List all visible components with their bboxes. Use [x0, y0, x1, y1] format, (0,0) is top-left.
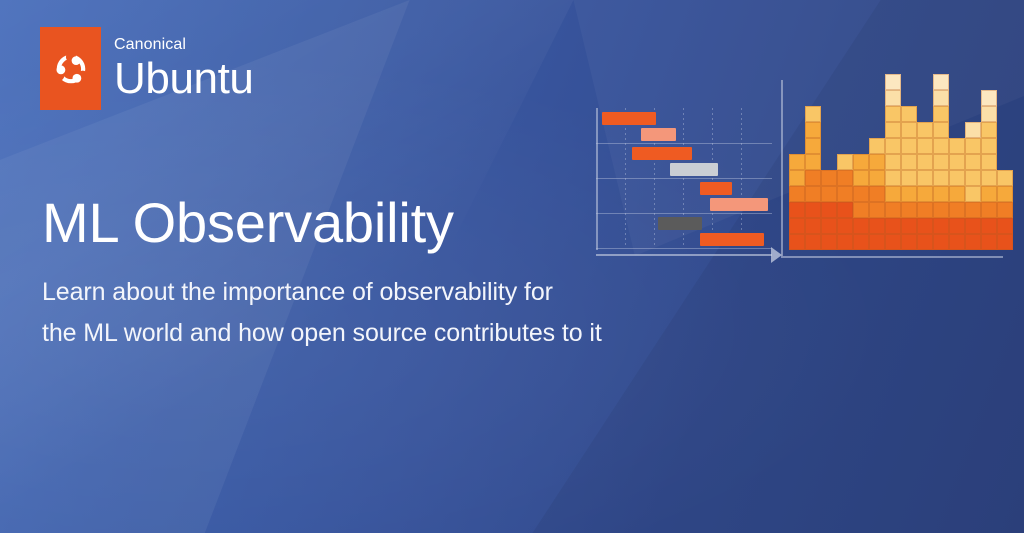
logo-wordmark: Canonical Ubuntu — [114, 27, 253, 110]
barchart-cell — [821, 234, 837, 250]
barchart-column — [789, 154, 805, 250]
barchart-cell — [997, 234, 1013, 250]
barchart-cell — [837, 154, 853, 170]
barchart-cell — [821, 202, 837, 218]
barchart-cell — [885, 74, 901, 90]
barchart-cell — [853, 170, 869, 186]
barchart-cell — [997, 218, 1013, 234]
barchart-cell — [901, 170, 917, 186]
barchart-cell — [981, 202, 997, 218]
barchart-cell — [981, 90, 997, 106]
barchart-cell — [965, 122, 981, 138]
barchart-cell — [917, 154, 933, 170]
barchart-cell — [837, 234, 853, 250]
barchart-cell — [981, 234, 997, 250]
barchart-cell — [901, 138, 917, 154]
barchart-cell — [901, 186, 917, 202]
barchart-cell — [869, 154, 885, 170]
barchart-y-axis — [781, 80, 783, 256]
barchart-cell — [965, 170, 981, 186]
barchart-cell — [837, 202, 853, 218]
barchart-cell — [869, 202, 885, 218]
barchart-cell — [821, 170, 837, 186]
gantt-chart-illustration — [596, 108, 776, 256]
barchart-column — [917, 122, 933, 250]
barchart-cell — [981, 186, 997, 202]
barchart-cell — [965, 218, 981, 234]
logo-canonical-text: Canonical — [114, 37, 253, 53]
barchart-cell — [789, 202, 805, 218]
barchart-cell — [949, 186, 965, 202]
barchart-cell — [917, 202, 933, 218]
barchart-cell — [901, 202, 917, 218]
barchart-cell — [837, 218, 853, 234]
barchart-cell — [805, 218, 821, 234]
barchart-cell — [933, 186, 949, 202]
barchart-column — [933, 74, 949, 250]
gantt-task-bar — [700, 233, 764, 246]
barchart-cell — [933, 218, 949, 234]
barchart-cell — [997, 202, 1013, 218]
barchart-cell — [917, 122, 933, 138]
barchart-cell — [885, 106, 901, 122]
barchart-column — [997, 170, 1013, 250]
barchart-cell — [869, 218, 885, 234]
barchart-cell — [821, 218, 837, 234]
barchart-cell — [917, 186, 933, 202]
barchart-columns — [789, 74, 1013, 250]
barchart-cell — [805, 234, 821, 250]
barchart-cell — [933, 154, 949, 170]
barchart-cell — [837, 186, 853, 202]
barchart-cell — [949, 138, 965, 154]
barchart-cell — [981, 106, 997, 122]
barchart-cell — [901, 122, 917, 138]
barchart-cell — [805, 170, 821, 186]
gantt-column-gridline — [712, 108, 713, 248]
barchart-cell — [789, 218, 805, 234]
barchart-cell — [805, 202, 821, 218]
barchart-cell — [853, 202, 869, 218]
barchart-cell — [885, 170, 901, 186]
barchart-column — [981, 90, 997, 250]
barchart-cell — [869, 170, 885, 186]
barchart-cell — [965, 138, 981, 154]
barchart-column — [949, 138, 965, 250]
barchart-cell — [965, 154, 981, 170]
barchart-cell — [885, 138, 901, 154]
barchart-cell — [901, 218, 917, 234]
barchart-cell — [933, 202, 949, 218]
barchart-cell — [869, 186, 885, 202]
barchart-cell — [869, 234, 885, 250]
barchart-column — [837, 154, 853, 250]
barchart-cell — [885, 154, 901, 170]
barchart-x-axis — [781, 256, 1003, 258]
barchart-cell — [901, 106, 917, 122]
barchart-cell — [789, 154, 805, 170]
gantt-task-bar — [700, 182, 732, 195]
barchart-cell — [853, 218, 869, 234]
barchart-cell — [805, 138, 821, 154]
gantt-column-gridline — [741, 108, 742, 248]
barchart-cell — [789, 186, 805, 202]
barchart-cell — [981, 138, 997, 154]
barchart-cell — [965, 202, 981, 218]
barchart-cell — [933, 122, 949, 138]
gantt-task-bar — [670, 163, 718, 176]
gantt-row-divider — [596, 213, 772, 214]
barchart-cell — [885, 218, 901, 234]
barchart-cell — [917, 170, 933, 186]
barchart-cell — [885, 202, 901, 218]
gantt-y-axis — [596, 108, 598, 250]
barchart-cell — [949, 202, 965, 218]
barchart-cell — [805, 106, 821, 122]
barchart-cell — [917, 234, 933, 250]
gantt-task-bar — [710, 198, 768, 211]
gantt-task-bar — [602, 112, 656, 125]
barchart-cell — [933, 90, 949, 106]
barchart-cell — [965, 234, 981, 250]
gantt-x-axis — [596, 254, 772, 256]
barchart-cell — [789, 170, 805, 186]
barchart-cell — [805, 186, 821, 202]
barchart-cell — [885, 234, 901, 250]
barchart-cell — [949, 170, 965, 186]
activity-bar-chart-illustration — [781, 80, 1003, 258]
barchart-cell — [949, 234, 965, 250]
barchart-cell — [933, 74, 949, 90]
gantt-task-bar — [632, 147, 692, 160]
barchart-cell — [885, 122, 901, 138]
barchart-cell — [949, 154, 965, 170]
page-subtitle: Learn about the importance of observabil… — [42, 272, 602, 353]
barchart-column — [901, 106, 917, 250]
barchart-cell — [933, 170, 949, 186]
barchart-cell — [805, 122, 821, 138]
barchart-cell — [853, 154, 869, 170]
barchart-cell — [949, 218, 965, 234]
subtitle-line-1: Learn about the importance of observabil… — [42, 272, 602, 313]
gantt-row-divider — [596, 143, 772, 144]
barchart-column — [965, 122, 981, 250]
barchart-cell — [965, 186, 981, 202]
page-title: ML Observability — [42, 195, 454, 251]
gantt-task-bar — [641, 128, 676, 141]
barchart-cell — [869, 138, 885, 154]
barchart-cell — [933, 138, 949, 154]
logo-ubuntu-text: Ubuntu — [114, 56, 253, 101]
barchart-cell — [933, 106, 949, 122]
barchart-cell — [853, 186, 869, 202]
slide-canvas: Canonical Ubuntu ML Observability Learn … — [0, 0, 1024, 533]
barchart-cell — [981, 122, 997, 138]
barchart-cell — [885, 90, 901, 106]
barchart-cell — [981, 218, 997, 234]
ubuntu-logo-tile — [40, 27, 101, 110]
barchart-cell — [933, 234, 949, 250]
subtitle-line-2: the ML world and how open source contrib… — [42, 313, 602, 354]
gantt-task-bar — [658, 217, 702, 230]
gantt-row-divider — [596, 248, 772, 249]
barchart-cell — [917, 138, 933, 154]
barchart-cell — [981, 154, 997, 170]
barchart-cell — [901, 154, 917, 170]
barchart-cell — [837, 170, 853, 186]
gantt-row-divider — [596, 178, 772, 179]
barchart-cell — [901, 234, 917, 250]
barchart-cell — [917, 218, 933, 234]
gantt-column-gridline — [625, 108, 626, 248]
barchart-column — [853, 154, 869, 250]
barchart-cell — [853, 234, 869, 250]
barchart-cell — [997, 186, 1013, 202]
barchart-column — [821, 170, 837, 250]
ubuntu-logo: Canonical Ubuntu — [40, 27, 253, 110]
barchart-column — [805, 106, 821, 250]
barchart-cell — [821, 186, 837, 202]
barchart-column — [885, 74, 901, 250]
barchart-cell — [789, 234, 805, 250]
barchart-cell — [805, 154, 821, 170]
barchart-cell — [885, 186, 901, 202]
ubuntu-circle-of-friends-icon — [50, 48, 92, 90]
barchart-column — [869, 138, 885, 250]
barchart-cell — [997, 170, 1013, 186]
barchart-cell — [981, 170, 997, 186]
